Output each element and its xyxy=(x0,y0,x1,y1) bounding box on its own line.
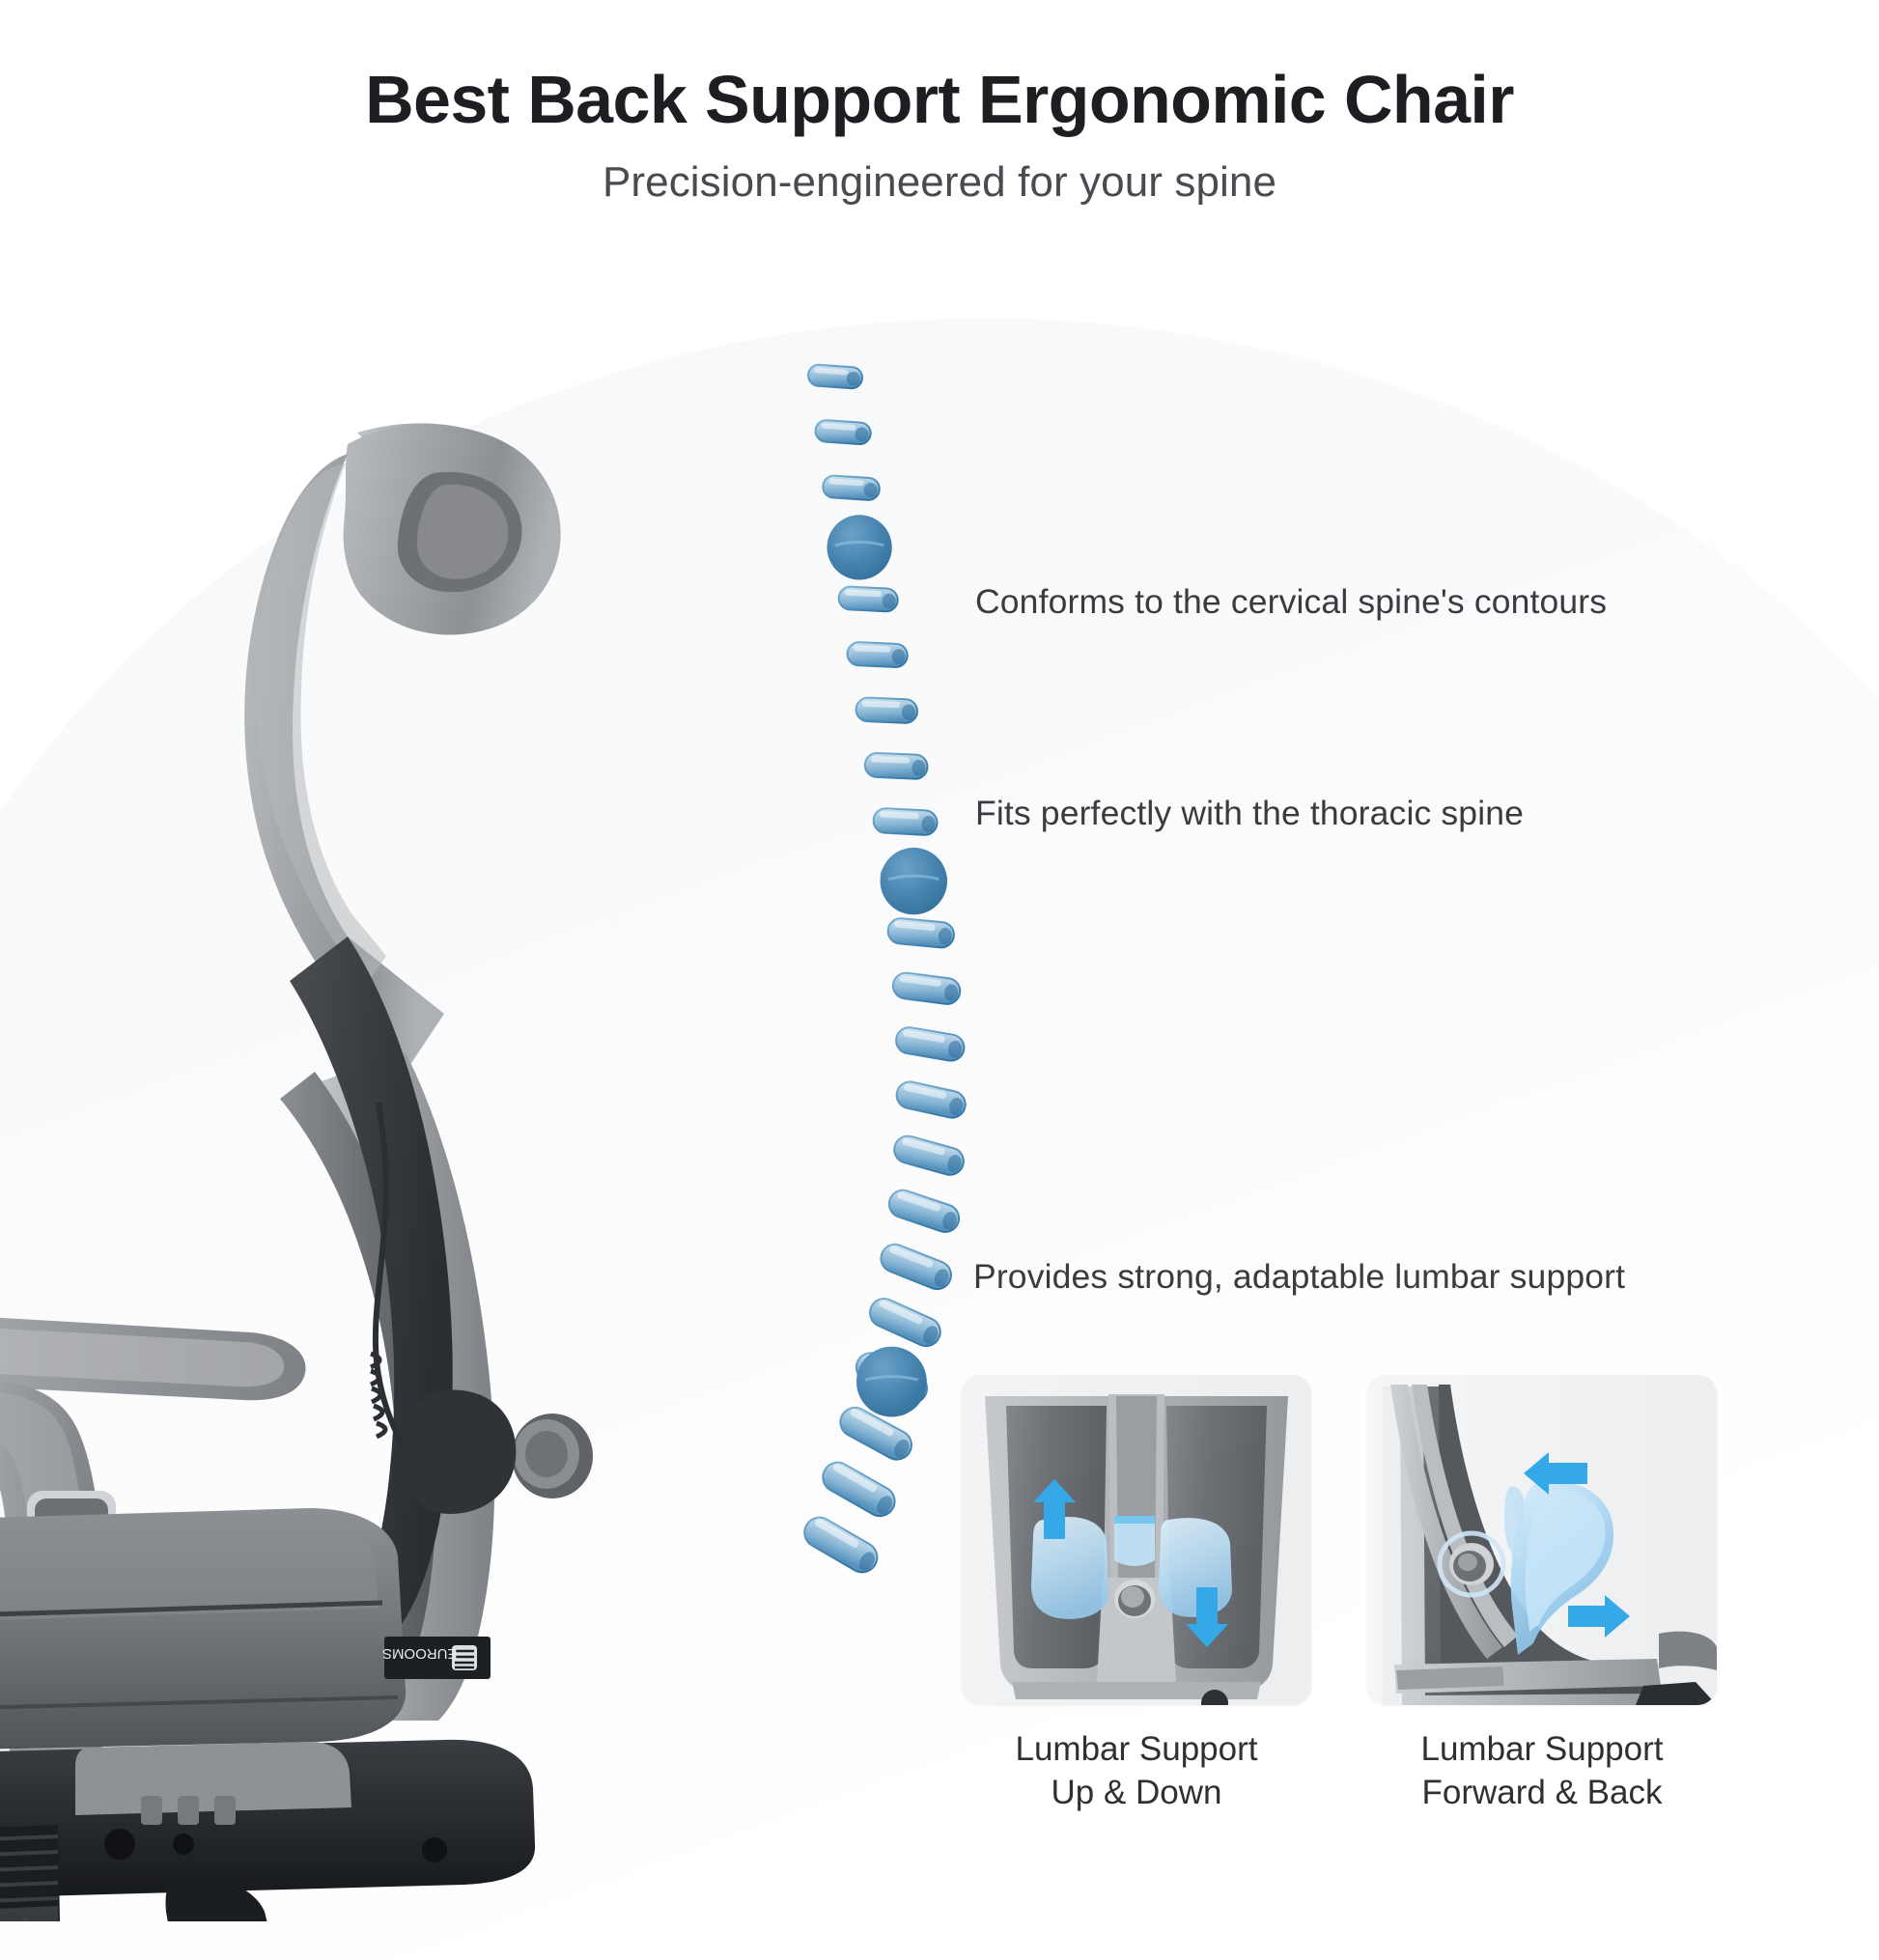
feature-caption-row: Lumbar Support Up & Down Lumbar Support … xyxy=(962,1728,1717,1815)
spine-disc-highlight xyxy=(881,848,947,914)
feature-card-row xyxy=(962,1375,1717,1705)
annotation-lumbar: Provides strong, adaptable lumbar suppor… xyxy=(973,1257,1625,1297)
svg-text:EUROOMS: EUROOMS xyxy=(382,1645,458,1662)
page-subtitle: Precision-engineered for your spine xyxy=(0,158,1879,207)
backrest-pivot-housing xyxy=(400,1390,516,1514)
caption-line1: Lumbar Support xyxy=(1016,1730,1258,1768)
lumbar-adjust-knob[interactable] xyxy=(512,1414,593,1498)
vertebra xyxy=(894,1025,966,1063)
lumbar-forward-back-illustration xyxy=(1367,1375,1717,1705)
vertebra xyxy=(864,752,928,779)
vertebra xyxy=(823,475,881,501)
lumbar-up-down-illustration xyxy=(962,1375,1311,1705)
vertebra xyxy=(838,586,898,612)
brand-tag: EUROOMS xyxy=(382,1637,491,1679)
caption-line1: Lumbar Support xyxy=(1421,1730,1664,1768)
vertebra xyxy=(847,642,908,668)
vertebra xyxy=(885,1187,963,1236)
annotation-cervical: Conforms to the cervical spine's contour… xyxy=(975,582,1607,622)
header-block: Best Back Support Ergonomic Chair Precis… xyxy=(0,64,1879,207)
caption-line2: Up & Down xyxy=(962,1772,1311,1815)
caption-line2: Forward & Back xyxy=(1367,1772,1717,1815)
vertebra xyxy=(891,1133,967,1178)
vertebra xyxy=(873,808,938,836)
chair-base-mechanism xyxy=(0,1740,535,1910)
feature-card-lumbar-up-down[interactable] xyxy=(962,1375,1311,1705)
lumbar-knob[interactable] xyxy=(1114,1580,1155,1618)
spine-disc-highlight xyxy=(856,1347,927,1417)
vertebra xyxy=(815,419,872,444)
vertebra xyxy=(887,917,956,949)
spine-disc-highlight xyxy=(827,515,892,579)
vertebra xyxy=(855,697,917,723)
tension-adjust-knob[interactable] xyxy=(0,1825,62,1921)
vertebra xyxy=(894,1079,968,1121)
vertebra xyxy=(807,364,862,389)
feature-card-lumbar-forward-back[interactable] xyxy=(1367,1375,1717,1705)
vertebra xyxy=(799,1512,883,1578)
infographic-canvas: EUROOMS xyxy=(0,0,1879,1879)
chair-seat xyxy=(0,1508,406,1759)
vertebra xyxy=(865,1294,944,1350)
page-title: Best Back Support Ergonomic Chair xyxy=(0,64,1879,135)
annotation-thoracic: Fits perfectly with the thoracic spine xyxy=(975,794,1524,833)
chair-headrest xyxy=(344,423,561,634)
vertebra xyxy=(877,1241,955,1294)
caption-lumbar-up-down: Lumbar Support Up & Down xyxy=(962,1728,1311,1815)
caption-lumbar-forward-back: Lumbar Support Forward & Back xyxy=(1367,1728,1717,1815)
vertebra xyxy=(891,971,961,1005)
vertebra xyxy=(818,1457,900,1522)
